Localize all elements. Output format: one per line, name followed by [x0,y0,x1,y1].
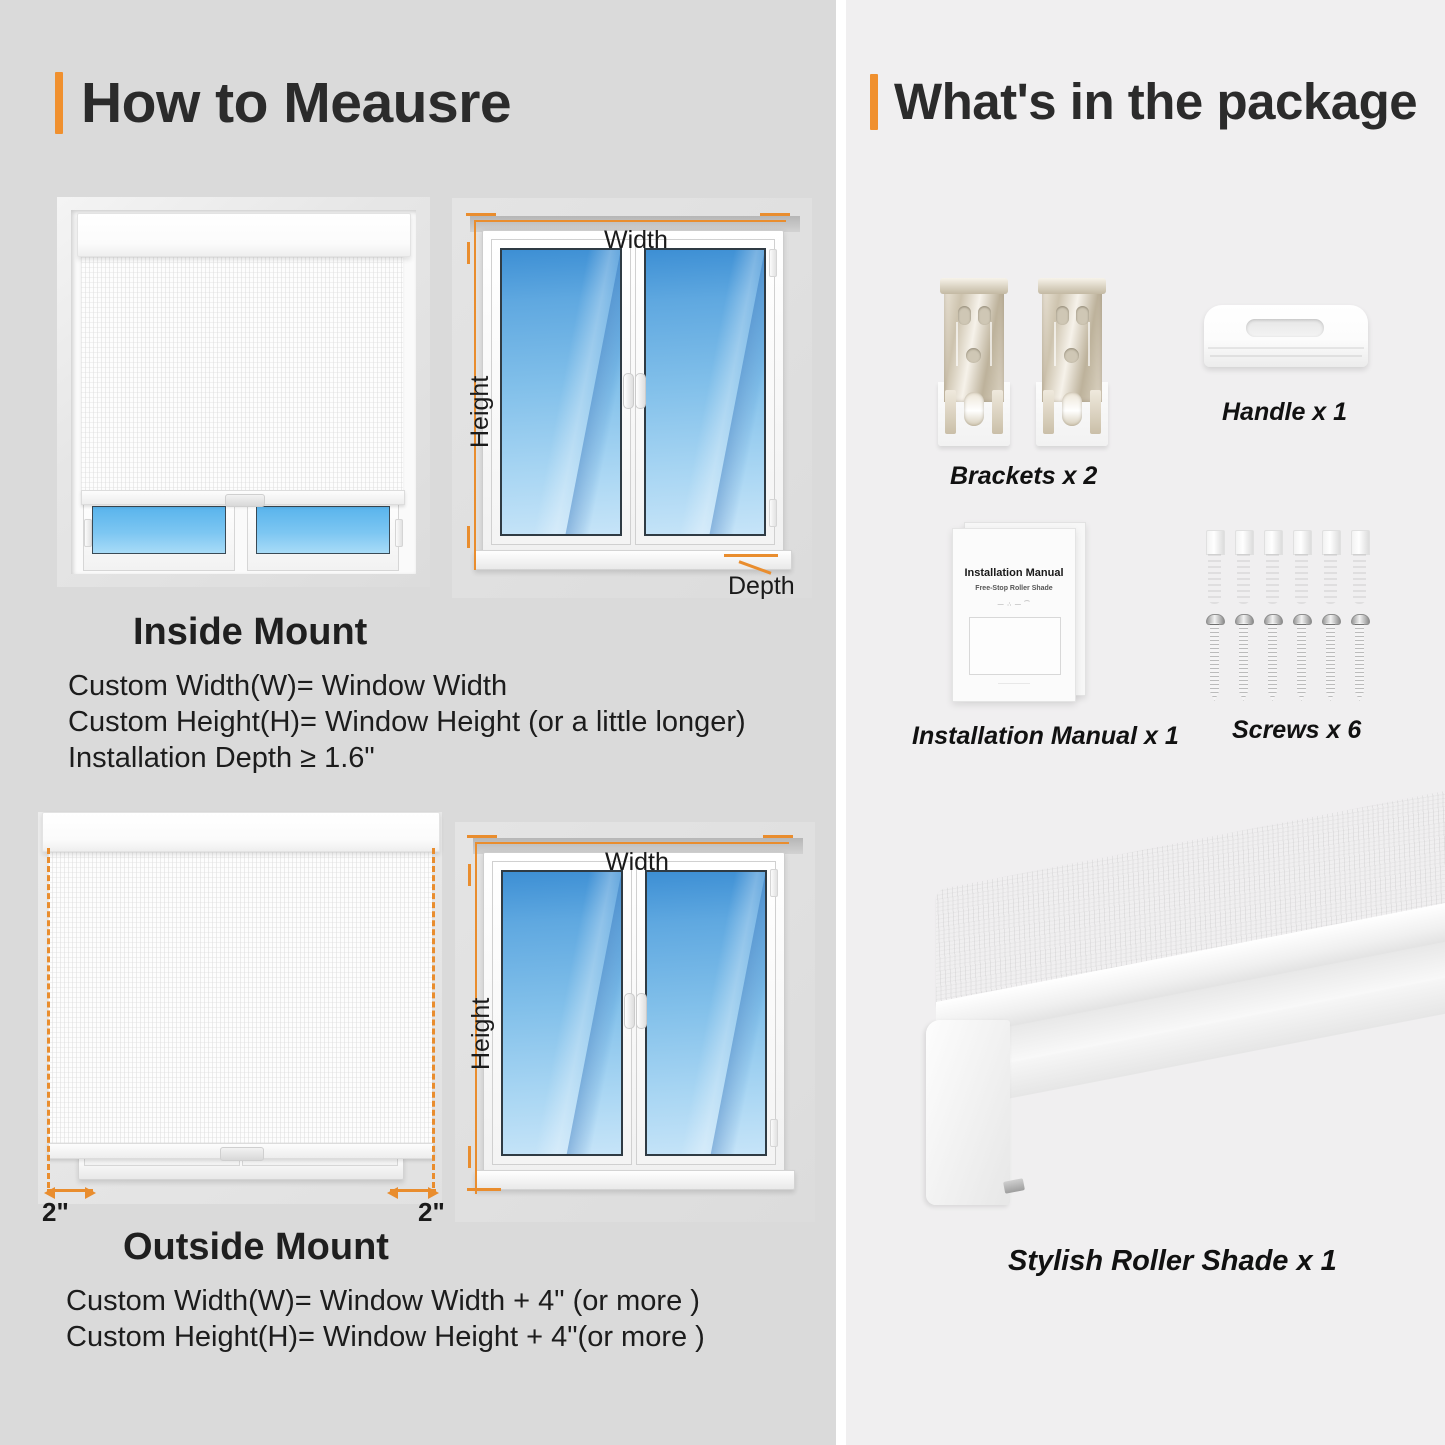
screw-4 [1293,614,1310,702]
shade-bottom-rail-tip [1003,1178,1025,1194]
bracket-slot-left [945,390,956,434]
bracket-hole-3 [966,348,981,363]
inside-mount-illustration [57,197,430,587]
bracket-ridge-1 [956,322,958,366]
roller-shade-label: Stylish Roller Shade x 1 [1008,1245,1337,1278]
overhang-guide-right [432,848,435,1188]
bracket-ridge-2 [990,322,992,366]
anchor-body [1295,552,1308,604]
roller-shade-image [900,880,1445,1210]
anchor-body [1237,552,1250,604]
bracket-plate [944,278,1004,402]
window-sash-right [635,239,775,545]
screw-shank [1297,623,1306,701]
bracket-hole-1 [958,306,971,325]
screw-6 [1351,614,1368,702]
manual-diagram-box [969,617,1061,675]
window-handle-right[interactable] [636,993,647,1029]
window-glass-right [644,248,766,536]
window-sash-left [492,861,632,1165]
screw-shank [1268,623,1277,701]
depth-measure-line [724,554,778,557]
width-measure-line [475,842,789,844]
handle-image [1204,305,1368,385]
package-heading: What's in the package [870,72,1417,131]
screw-5 [1322,614,1339,702]
outside-mount-title: Outside Mount [123,1226,389,1269]
window-handle-left[interactable] [623,373,634,409]
manual-image: Installation Manual Free-Stop Roller Sha… [952,522,1112,702]
window-glass-left [500,248,622,536]
window-hinge-left [84,519,92,547]
shade-valance [77,213,411,257]
shade-fabric [48,848,432,1148]
width-cap-right [760,213,790,216]
shade-pull-handle[interactable] [220,1147,264,1161]
window-sash-right [636,861,776,1165]
outside-mount-illustration [38,812,442,1204]
bracket-slot-right [992,390,1003,434]
bracket-top-flange [1038,278,1106,294]
wall-anchor-4 [1293,530,1310,606]
window-frame [482,230,784,554]
inside-mount-line-1: Custom Width(W)= Window Width [68,670,507,703]
bracket-slot-right [1090,390,1101,434]
width-cap-left [466,213,496,216]
brackets-label: Brackets x 2 [950,462,1097,491]
manual-footer-text: ———————— [953,679,1075,686]
bracket-plate [1042,278,1102,402]
screws-label: Screws x 6 [1232,716,1361,745]
screw-shank [1326,623,1335,701]
window-sash-left [83,497,235,571]
inside-mount-line-3: Installation Depth ≥ 1.6" [68,742,375,775]
manual-scribble-text: — ∴ — ⁀ [953,601,1075,608]
bracket-ridge-2 [1088,322,1090,366]
wall-anchor-3 [1264,530,1281,606]
wall-anchor-5 [1322,530,1339,606]
height-label: Height [466,376,495,448]
brackets-image [938,278,1118,458]
how-to-measure-heading: How to Meausre [55,70,511,136]
window-glass-left [501,870,623,1156]
inside-mount-measure-diagram: Width Height Depth [452,198,812,598]
bracket-ridge-1 [1054,322,1056,366]
screw-2 [1235,614,1252,702]
handle-grip-slot [1246,319,1324,337]
bracket-center-oval [1062,392,1082,426]
anchor-body [1353,552,1366,604]
bracket-slot-left [1043,390,1054,434]
screw-shank [1210,623,1219,701]
shade-end-cap [926,1020,1010,1205]
bracket-hole-3 [1064,348,1079,363]
window-hinge-top [769,249,777,277]
screw-shank [1355,623,1364,701]
overhang-arrow-right [387,1183,439,1197]
bracket-center-oval [964,392,984,426]
manual-title-text: Installation Manual [953,567,1075,579]
anchor-body [1208,552,1221,604]
height-cap-top [468,864,471,886]
height-cap-bottom [468,1146,471,1168]
manual-subtitle-text: Free-Stop Roller Shade [953,585,1075,592]
manual-front-cover: Installation Manual Free-Stop Roller Sha… [952,528,1076,702]
shade-valance [42,812,440,852]
window-glass-left [92,506,226,554]
window-sash-left [491,239,631,545]
panel-divider [836,0,846,1445]
anchor-body [1324,552,1337,604]
overhang-dim-right: 2" [418,1197,445,1228]
window-hinge-top [770,869,778,897]
overhang-guide-left [47,848,50,1188]
window-hinge-bottom [769,499,777,527]
width-cap-right [763,835,793,838]
bracket-1 [938,278,1010,446]
handle-groove-2 [1210,355,1362,357]
window-sill [474,550,792,570]
height-cap-bottom [467,526,470,548]
width-cap-left [467,835,497,838]
height-cap-base [467,1188,501,1191]
inside-mount-title: Inside Mount [133,611,367,654]
bracket-hole-1 [1056,306,1069,325]
window-glass-right [256,506,390,554]
wall-anchor-1 [1206,530,1223,606]
window-hinge-right [395,519,403,547]
height-cap-top [467,242,470,264]
screw-shank [1239,623,1248,701]
window-hinge-bottom [770,1119,778,1147]
accent-bar-icon [55,72,63,134]
overhang-dim-left: 2" [42,1197,69,1228]
width-label: Width [605,848,669,877]
window-handle-right[interactable] [635,373,646,409]
handle-label: Handle x 1 [1222,398,1347,427]
outside-mount-line-1: Custom Width(W)= Window Width + 4" (or m… [66,1285,700,1318]
bracket-2 [1036,278,1108,446]
height-label: Height [467,998,496,1070]
screw-1 [1206,614,1223,702]
heading-left-text: How to Meausre [81,70,511,136]
bracket-top-flange [940,278,1008,294]
screw-3 [1264,614,1281,702]
depth-label: Depth [728,572,795,601]
screws-image [1206,530,1376,700]
handle-groove-1 [1208,347,1364,349]
outside-mount-line-2: Custom Height(H)= Window Height + 4"(or … [66,1321,705,1354]
heading-right-text: What's in the package [894,72,1417,131]
width-measure-line [474,220,786,222]
window-sill [475,1170,795,1190]
window-glass-right [645,870,767,1156]
window-frame [483,852,785,1174]
inside-mount-line-2: Custom Height(H)= Window Height (or a li… [68,706,746,739]
infographic-page: How to Meausre What's in the package [0,0,1445,1445]
overhang-arrow-left [44,1183,96,1197]
outside-mount-measure-diagram: Width Height [455,822,815,1222]
width-label: Width [604,226,668,255]
anchor-body [1266,552,1279,604]
wall-anchor-6 [1351,530,1368,606]
shade-pull-handle[interactable] [225,494,265,507]
accent-bar-icon [870,74,878,130]
shade-fabric [81,253,403,493]
window-sash-right [247,497,399,571]
window-handle-left[interactable] [624,993,635,1029]
wall-anchor-2 [1235,530,1252,606]
manual-label: Installation Manual x 1 [912,722,1179,751]
